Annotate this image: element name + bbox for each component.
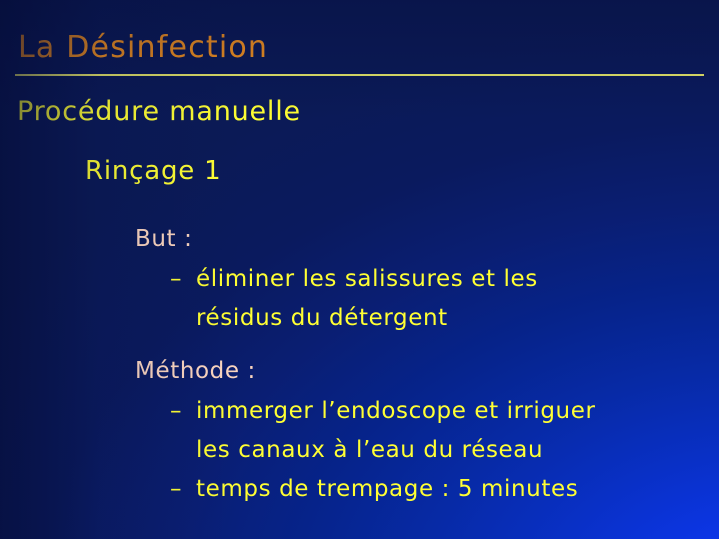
- bullet-dash-icon: –: [170, 400, 196, 423]
- bullet-text: éliminer les salissures et les: [196, 268, 538, 291]
- section-heading: Rinçage 1: [85, 158, 222, 184]
- bullet-text-continuation: résidus du détergent: [196, 307, 448, 330]
- bullet-text-continuation: les canaux à l’eau du réseau: [196, 439, 543, 462]
- bullet-text: immerger l’endoscope et irriguer: [196, 400, 596, 423]
- bullet-dash-icon: –: [170, 268, 196, 291]
- bullet-item: – immerger l’endoscope et irriguer: [170, 400, 596, 423]
- block-label-methode: Méthode :: [135, 360, 256, 383]
- block-label-but: But :: [135, 228, 192, 251]
- slide-subtitle: Procédure manuelle: [17, 98, 301, 125]
- bullet-dash-icon: –: [170, 478, 196, 501]
- title-underline-rule: [15, 74, 704, 76]
- slide-title: La Désinfection: [18, 33, 268, 63]
- bullet-text: temps de trempage : 5 minutes: [196, 478, 578, 501]
- bullet-item: – éliminer les salissures et les: [170, 268, 538, 291]
- presentation-slide: La Désinfection Procédure manuelle Rinça…: [0, 0, 719, 539]
- bullet-item: – temps de trempage : 5 minutes: [170, 478, 578, 501]
